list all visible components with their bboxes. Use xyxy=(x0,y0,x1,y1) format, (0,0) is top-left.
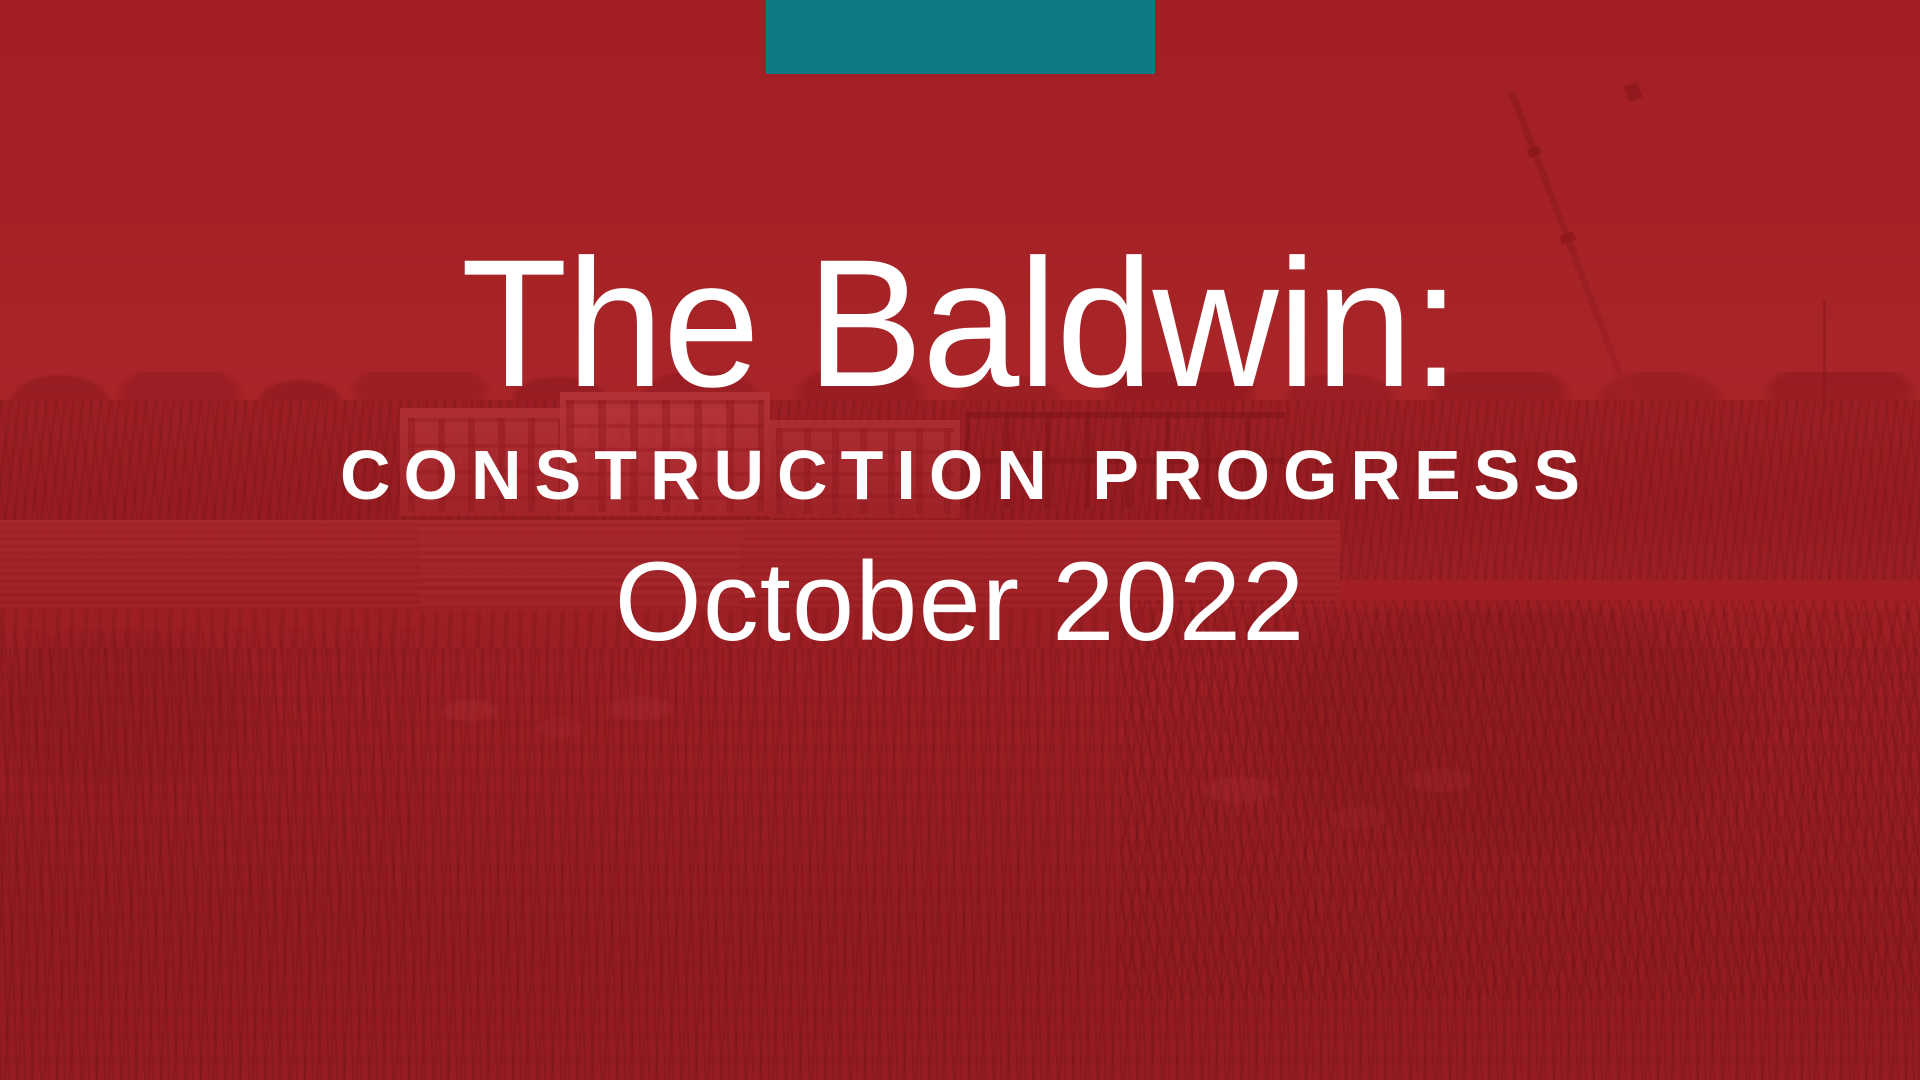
page-date: October 2022 xyxy=(615,546,1306,658)
title-slide: The Baldwin: CONSTRUCTION PROGRESS Octob… xyxy=(0,0,1920,1080)
page-title: The Baldwin: xyxy=(461,232,1460,414)
page-subtitle: CONSTRUCTION PROGRESS xyxy=(327,440,1593,510)
title-text-block: The Baldwin: CONSTRUCTION PROGRESS Octob… xyxy=(0,0,1920,1080)
